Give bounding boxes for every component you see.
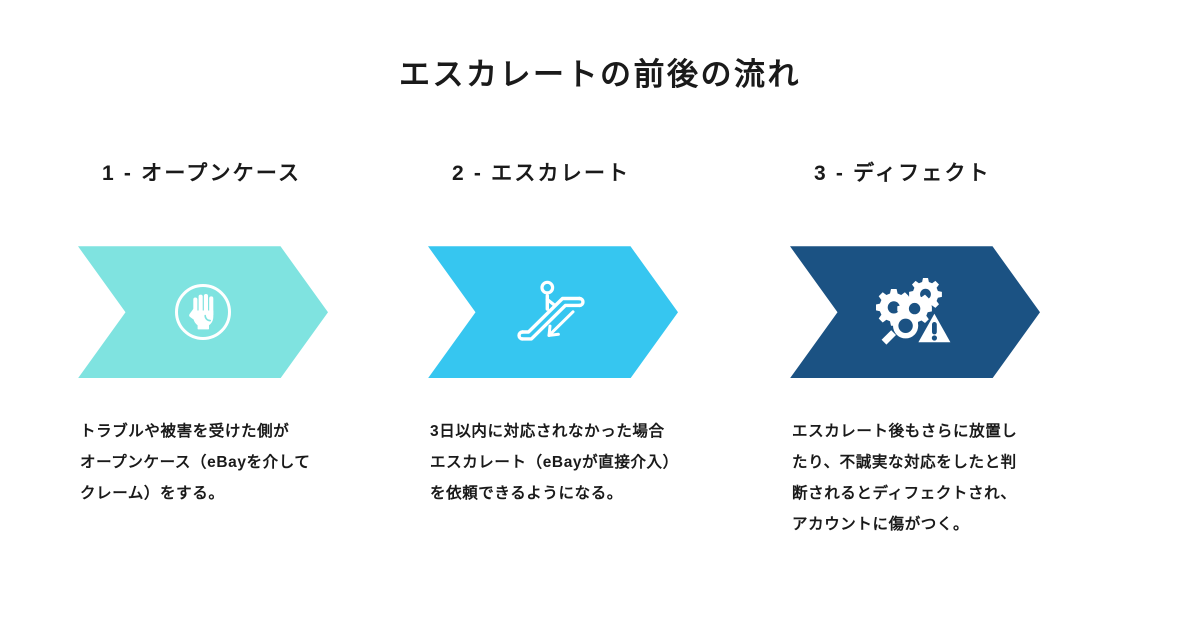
step-column-2: 2 - エスカレート [365,160,730,540]
page-title: エスカレートの前後の流れ [0,56,1200,93]
step-chevron-3 [790,246,1040,378]
gears-magnifier-warning-icon [790,246,1040,378]
steps-container: 1 - オープンケース [0,160,1200,540]
step-chevron-1 [78,246,328,378]
page-title-container: エスカレートの前後の流れ [0,56,1200,93]
step-heading-3: 3 - ディフェクト [814,160,991,187]
raised-hand-in-circle-icon [78,246,328,378]
escalator-down-icon [428,246,678,378]
step-body-1: トラブルや被害を受けた側が オープンケース（eBayを介して クレーム）をする。 [80,416,311,509]
infographic-page: エスカレートの前後の流れ 1 - オープンケース [0,0,1200,630]
step-column-3: 3 - ディフェクト [730,160,1095,540]
step-body-2: 3日以内に対応されなかった場合 エスカレート（eBayが直接介入） を依頼できる… [430,416,679,509]
step-body-3: エスカレート後もさらに放置し たり、不誠実な対応をしたと判 断されるとディフェク… [792,416,1017,540]
step-heading-2: 2 - エスカレート [452,160,630,187]
step-chevron-2 [428,246,678,378]
step-column-1: 1 - オープンケース [0,160,365,540]
step-heading-1: 1 - オープンケース [102,160,301,187]
